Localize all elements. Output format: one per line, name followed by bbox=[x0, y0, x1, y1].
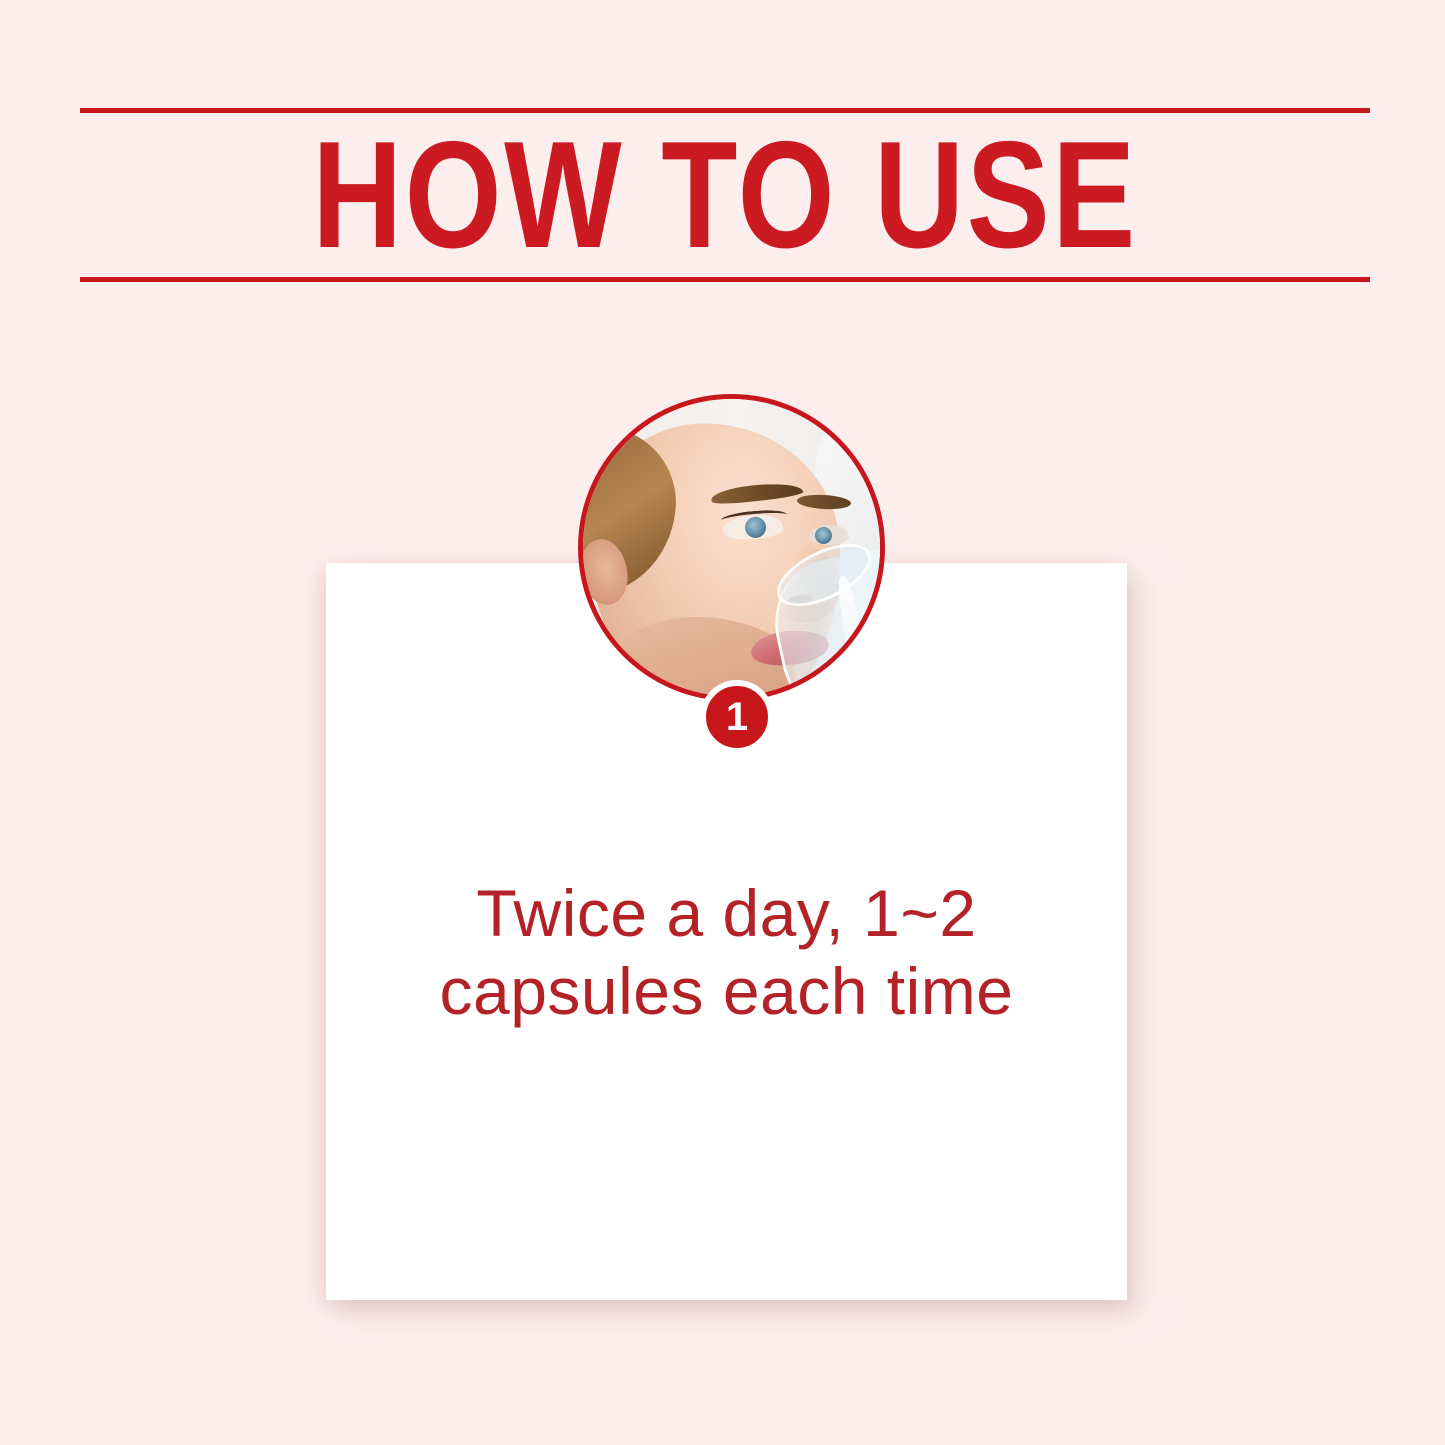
header-block: HOW TO USE bbox=[80, 108, 1370, 284]
iris-far bbox=[815, 527, 832, 544]
woman-drinking-water-image bbox=[583, 399, 880, 696]
how-to-use-panel: HOW TO USE Twice a day, 1~2 capsules eac… bbox=[0, 0, 1445, 1445]
instruction-line-2: capsules each time bbox=[326, 953, 1127, 1031]
step-number-badge: 1 bbox=[700, 680, 774, 754]
step-photo bbox=[578, 394, 885, 701]
instruction-line-1: Twice a day, 1~2 bbox=[326, 875, 1127, 953]
eye-far bbox=[809, 525, 849, 545]
title-rule-bottom bbox=[80, 277, 1370, 282]
page-title: HOW TO USE bbox=[196, 108, 1254, 282]
pupil-near bbox=[612, 407, 621, 416]
instruction-text: Twice a day, 1~2 capsules each time bbox=[326, 875, 1127, 1031]
